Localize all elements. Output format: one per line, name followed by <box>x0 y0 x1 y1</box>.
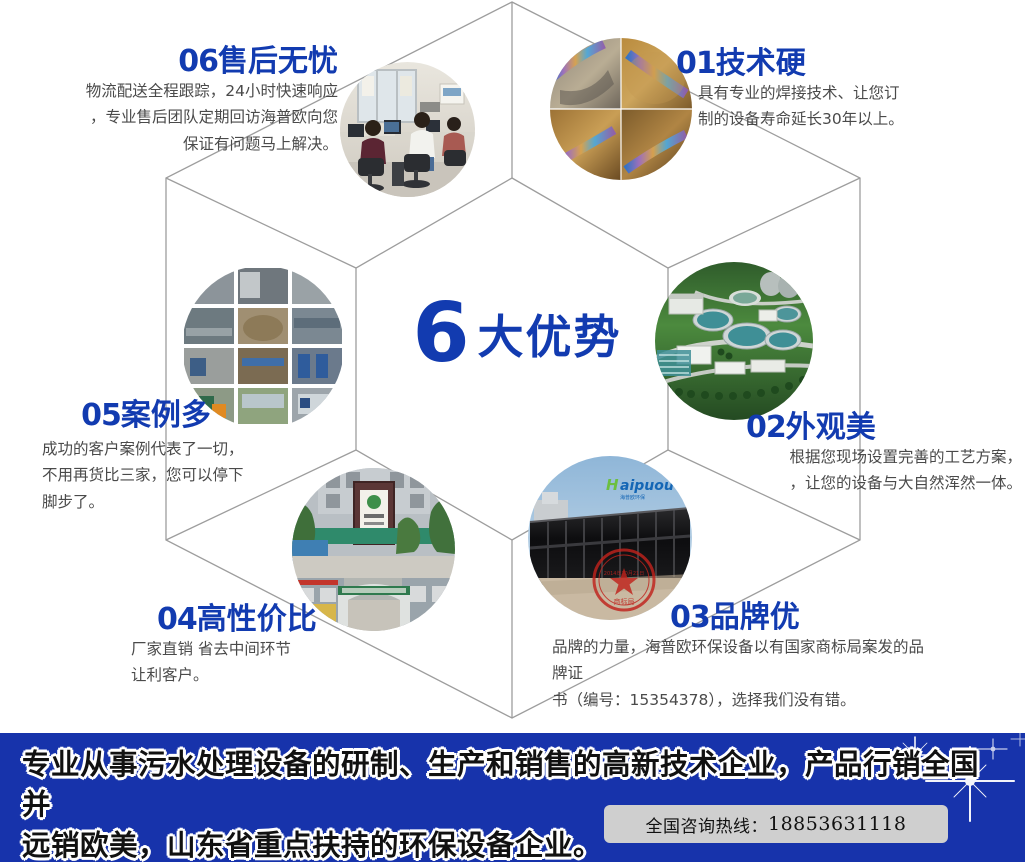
section-06-title: 售后无忧 <box>218 44 338 79</box>
section-03-line-1: 品牌的力量，海普欧环保设备以有国家商标局案发的品牌证 <box>552 634 930 687</box>
section-06-body: 物流配送全程跟踪，24小时快速响应 ，专业售后团队定期回访海普欧向您 保证有问题… <box>18 78 338 158</box>
section-02-line-1: 根据您现场设置完善的工艺方案， <box>700 444 1022 471</box>
section-01-body: 具有专业的焊接技术、让您订 制的设备寿命延长30年以上。 <box>676 80 976 133</box>
section-03-body: 品牌的力量，海普欧环保设备以有国家商标局案发的品牌证 书（编号：15354378… <box>530 634 930 714</box>
section-01-number: 01 <box>676 46 716 81</box>
section-06: 06售后无忧 物流配送全程跟踪，24小时快速响应 ，专业售后团队定期回访海普欧向… <box>18 46 338 157</box>
svg-text:2014年10月21日: 2014年10月21日 <box>604 570 644 577</box>
section-05: 05案例多 成功的客户案例代表了一切， 不用再货比三家，您可以停下 脚步了。 <box>20 400 310 515</box>
hotline-number: 18853631118 <box>768 813 906 835</box>
section-04-line-1: 厂家直销 省去中间环节 <box>131 636 395 663</box>
section-04-title: 高性价比 <box>197 602 317 637</box>
section-05-number: 05 <box>81 398 121 433</box>
section-01-heading: 01技术硬 <box>676 48 976 80</box>
section-06-line-1: 物流配送全程跟踪，24小时快速响应 <box>18 78 338 105</box>
black-tank-equipment-photo: aipuou H 海普欧环保 商标局 2014年10月21日 <box>528 456 692 620</box>
svg-text:海普欧环保: 海普欧环保 <box>620 494 645 501</box>
section-04: 04高性价比 厂家直销 省去中间环节 让利客户。 <box>95 604 395 689</box>
section-04-heading: 04高性价比 <box>95 604 395 636</box>
section-03-number: 03 <box>670 600 710 635</box>
section-02: 02外观美 根据您现场设置完善的工艺方案， ，让您的设备与大自然浑然一体。 <box>700 412 1022 497</box>
section-06-line-3: 保证有问题马上解决。 <box>18 131 338 158</box>
infographic-page: 6 大优势 <box>0 0 1025 862</box>
section-03-heading: 03品牌优 <box>530 602 930 634</box>
section-04-line-2: 让利客户。 <box>131 662 395 689</box>
section-05-body: 成功的客户案例代表了一切， 不用再货比三家，您可以停下 脚步了。 <box>20 432 310 516</box>
hotline-box: 全国咨询热线：18853631118 <box>604 805 948 843</box>
section-06-heading: 06售后无忧 <box>18 46 338 78</box>
section-04-body: 厂家直销 省去中间环节 让利客户。 <box>95 636 395 689</box>
section-03: 03品牌优 品牌的力量，海普欧环保设备以有国家商标局案发的品牌证 书（编号：15… <box>530 602 930 713</box>
section-05-line-3: 脚步了。 <box>42 489 310 516</box>
banner-text: 专业从事污水处理设备的研制、生产和销售的高新技术企业，产品行销全国并 远销欧美，… <box>22 745 984 862</box>
center-title: 6 大优势 <box>392 288 642 380</box>
section-03-line-2: 书（编号：15354378），选择我们没有错。 <box>552 687 930 714</box>
section-05-heading: 05案例多 <box>20 400 310 432</box>
section-04-number: 04 <box>157 602 197 637</box>
section-02-number: 02 <box>746 410 786 445</box>
section-01: 01技术硬 具有专业的焊接技术、让您订 制的设备寿命延长30年以上。 <box>676 48 976 133</box>
section-02-line-2: ，让您的设备与大自然浑然一体。 <box>700 470 1022 497</box>
svg-text:aipuou: aipuou <box>620 478 674 494</box>
center-label: 大优势 <box>478 301 622 367</box>
section-03-title: 品牌优 <box>710 600 800 635</box>
section-02-body: 根据您现场设置完善的工艺方案， ，让您的设备与大自然浑然一体。 <box>700 444 1022 497</box>
center-number: 6 <box>412 293 467 375</box>
section-02-title: 外观美 <box>786 410 876 445</box>
section-05-line-2: 不用再货比三家，您可以停下 <box>42 462 310 489</box>
section-01-title: 技术硬 <box>716 46 806 81</box>
welding-detail-photo <box>550 38 692 180</box>
hotline-label: 全国咨询热线： <box>646 812 769 837</box>
section-02-heading: 02外观美 <box>700 412 1022 444</box>
svg-text:H: H <box>606 476 619 494</box>
section-01-line-1: 具有专业的焊接技术、让您订 <box>698 80 976 107</box>
wastewater-plant-aerial-photo <box>655 262 813 420</box>
section-05-line-1: 成功的客户案例代表了一切， <box>42 436 310 463</box>
section-06-number: 06 <box>178 44 218 79</box>
office-staff-photo <box>340 62 475 197</box>
section-01-line-2: 制的设备寿命延长30年以上。 <box>698 106 976 133</box>
section-06-line-2: ，专业售后团队定期回访海普欧向您 <box>18 104 338 131</box>
section-05-title: 案例多 <box>121 398 211 433</box>
